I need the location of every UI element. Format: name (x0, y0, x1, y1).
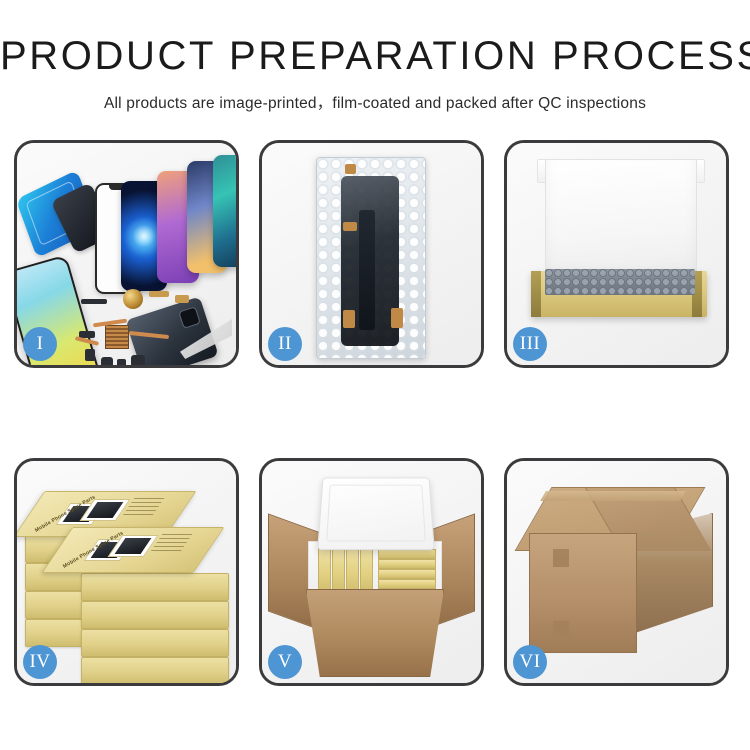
process-step-panel-2: II (259, 140, 484, 368)
process-step-panel-4: Mobile Phone Spare Parts Mobile Phone Sp… (14, 458, 239, 686)
inner-box-icon (378, 559, 436, 569)
carton-body-icon (306, 589, 444, 677)
inner-box-icon (378, 579, 436, 589)
step-badge-5: V (268, 645, 302, 679)
foam-lid-icon (545, 159, 697, 281)
bubble-wrapped-contents-icon (545, 269, 695, 295)
foam-lid-open-icon (317, 477, 435, 550)
step-badge-3: III (513, 327, 547, 361)
process-step-grid: I II (14, 140, 736, 686)
carton-tape-icon (540, 491, 686, 501)
inner-box-icon (332, 547, 345, 595)
inner-box-icon (318, 547, 331, 595)
product-preparation-process-page: PRODUCT PREPARATION PROCESS All products… (0, 0, 750, 750)
stacked-box-icon (81, 573, 229, 601)
carton-seal-icon (553, 549, 569, 567)
tape-tab-icon (345, 164, 356, 174)
spare-part-icon (117, 359, 126, 368)
tape-tab-icon (391, 308, 403, 328)
connector-icon (175, 295, 189, 303)
carton-side-icon (635, 513, 713, 633)
step-badge-6: VI (513, 645, 547, 679)
inner-box-icon (346, 547, 359, 595)
process-step-panel-3: III (504, 140, 729, 368)
chip-icon (105, 325, 129, 349)
process-step-panel-5: V (259, 458, 484, 686)
inner-box-icon (378, 569, 436, 579)
step-badge-1: I (23, 327, 57, 361)
inner-box-icon (378, 549, 436, 559)
box-stack-icon: Mobile Phone Spare Parts Mobile Phone Sp… (25, 477, 231, 673)
stacked-box-icon (81, 601, 229, 629)
carton-seal-icon (553, 621, 569, 637)
inner-box-icon (360, 547, 373, 595)
carton-front-icon (529, 533, 637, 653)
spare-part-icon (101, 357, 113, 367)
page-title: PRODUCT PREPARATION PROCESS (0, 36, 750, 76)
process-step-panel-6: VI (504, 458, 729, 686)
connector-icon (149, 291, 169, 297)
box-side-icon (531, 271, 541, 317)
flex-strip-icon (359, 210, 375, 330)
process-step-panel-1: I (14, 140, 239, 368)
spare-part-icon (131, 355, 145, 367)
speaker-icon (123, 289, 143, 309)
earpiece-part-icon (81, 299, 107, 304)
tape-tab-icon (343, 310, 355, 328)
page-subtitle: All products are image-printed，film-coat… (0, 91, 750, 113)
tape-tab-icon (343, 222, 357, 231)
stacked-box-icon (81, 629, 229, 657)
page-header: PRODUCT PREPARATION PROCESS All products… (0, 0, 750, 113)
bubble-wrap-bag-icon (316, 157, 426, 359)
step-badge-4: IV (23, 645, 57, 679)
spare-part-icon (85, 349, 95, 361)
stacked-box-icon (81, 657, 229, 685)
step-badge-2: II (268, 327, 302, 361)
phone-screen-teal-icon (213, 155, 239, 267)
